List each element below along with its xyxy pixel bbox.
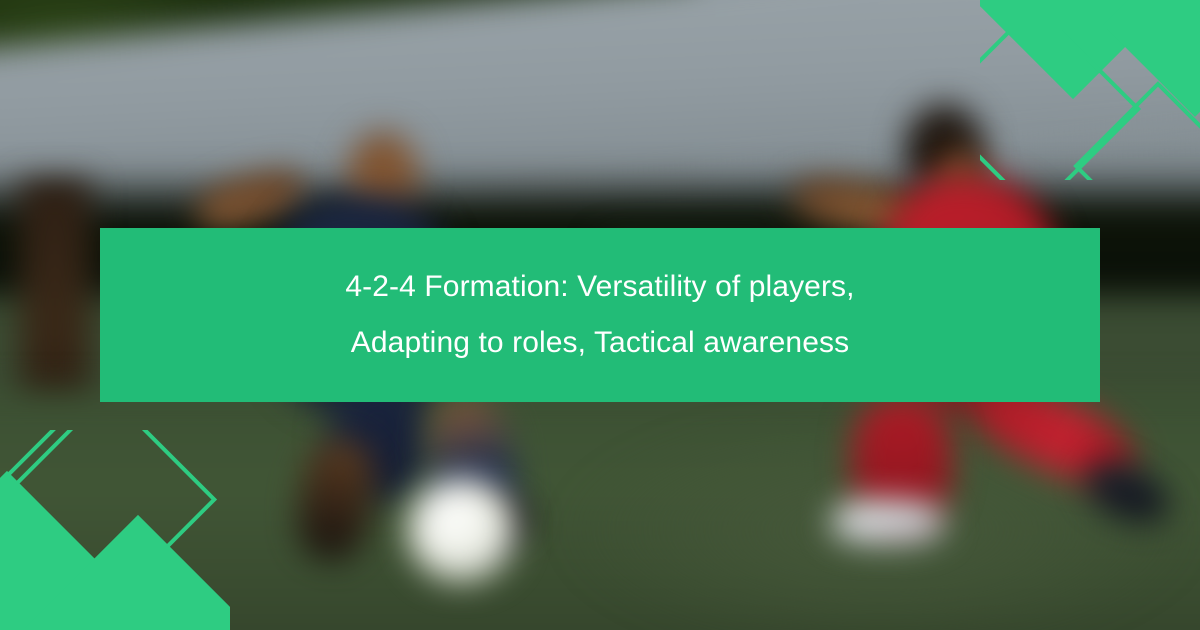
social-card: 4-2-4 Formation: Versatility of players,… [0,0,1200,630]
diamond-cluster-top-right [980,0,1200,180]
player-red-boot [832,500,944,544]
caption-banner: 4-2-4 Formation: Versatility of players,… [100,228,1100,402]
diamond-cluster-bottom-left [0,430,230,630]
caption-line-2: Adapting to roles, Tactical awareness [351,328,849,358]
bg-wooden-post [20,180,90,420]
soccer-ball [408,478,516,582]
caption-line-1: 4-2-4 Formation: Versatility of players, [345,272,854,302]
